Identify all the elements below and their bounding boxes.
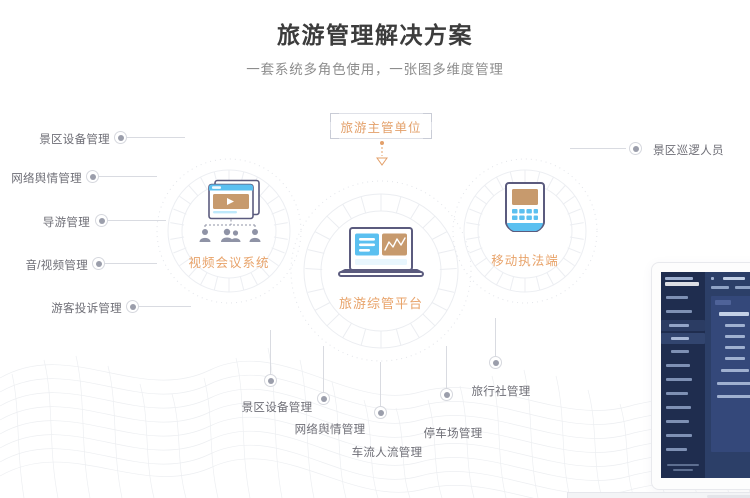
laptop-screen — [661, 272, 750, 478]
spoke-line-left-4 — [139, 306, 191, 307]
dashboard-content[interactable] — [705, 272, 750, 478]
badge-corner-tl — [330, 113, 340, 123]
handheld-terminal-icon — [501, 180, 549, 242]
admin-dashboard-preview[interactable] — [651, 262, 750, 490]
page-header: 旅游管理解决方案 一套系统多角色使用，一张图多维度管理 — [0, 18, 750, 82]
node-platform[interactable]: 旅游综管平台 — [321, 226, 441, 312]
spoke-label-left-3[interactable]: 音/视频管理 — [4, 257, 88, 273]
spoke-line-bottom-0 — [270, 330, 271, 376]
spoke-dot-left-3[interactable] — [93, 258, 104, 269]
laptop-dashboard-icon — [337, 226, 425, 284]
badge-edge-bottom — [339, 138, 423, 139]
spoke-line-bottom-3 — [446, 346, 447, 390]
badge-edge-right — [431, 122, 432, 130]
spoke-label-right-0[interactable]: 景区巡逻人员 — [653, 142, 750, 158]
spoke-dot-bottom-4[interactable] — [490, 357, 501, 368]
spoke-label-left-4[interactable]: 游客投诉管理 — [24, 300, 122, 316]
spoke-label-bottom-4[interactable]: 旅行社管理 — [456, 383, 546, 399]
page-title: 旅游管理解决方案 — [0, 18, 750, 52]
spoke-dot-bottom-1[interactable] — [318, 393, 329, 404]
node-video-conference[interactable]: 视频会议系统 — [169, 178, 289, 271]
authority-badge-label: 旅游主管单位 — [340, 117, 421, 136]
spoke-dot-bottom-2[interactable] — [375, 407, 386, 418]
node-platform-label: 旅游综管平台 — [321, 293, 441, 312]
spoke-dot-right-0[interactable] — [630, 143, 641, 154]
spoke-line-left-3 — [105, 263, 157, 264]
laptop-lid — [651, 262, 750, 490]
spoke-line-bottom-1 — [323, 346, 324, 394]
badge-corner-br — [422, 129, 432, 139]
node-mobile-enforcement[interactable]: 移动执法端 — [465, 180, 585, 269]
spoke-line-bottom-2 — [380, 362, 381, 408]
spoke-dot-bottom-3[interactable] — [441, 389, 452, 400]
spoke-label-left-2[interactable]: 导游管理 — [14, 214, 90, 230]
spoke-line-left-0 — [127, 137, 185, 138]
spoke-dot-left-2[interactable] — [96, 215, 107, 226]
spoke-dot-left-0[interactable] — [115, 132, 126, 143]
spoke-label-bottom-2[interactable]: 车流人流管理 — [342, 444, 432, 460]
node-mobile-enforcement-label: 移动执法端 — [465, 250, 585, 269]
spoke-label-bottom-0[interactable]: 景区设备管理 — [232, 399, 322, 415]
badge-edge-top — [339, 113, 423, 114]
spoke-label-left-0[interactable]: 景区设备管理 — [10, 131, 110, 147]
spoke-dot-bottom-0[interactable] — [265, 375, 276, 386]
spoke-label-bottom-3[interactable]: 停车场管理 — [408, 425, 498, 441]
spoke-line-right-0 — [570, 148, 626, 149]
laptop-base — [567, 492, 750, 498]
spoke-label-bottom-1[interactable]: 网络舆情管理 — [285, 421, 375, 437]
spoke-dot-left-4[interactable] — [127, 301, 138, 312]
spoke-label-left-1[interactable]: 网络舆情管理 — [0, 170, 82, 186]
spoke-line-bottom-4 — [495, 318, 496, 358]
video-window-icon — [193, 178, 265, 246]
dashboard-sidebar[interactable] — [661, 272, 705, 478]
background-mesh-decoration — [0, 308, 750, 498]
spoke-line-left-1 — [99, 176, 157, 177]
page-subtitle: 一套系统多角色使用，一张图多维度管理 — [0, 58, 750, 82]
spoke-line-left-2 — [108, 220, 166, 221]
spoke-dot-left-1[interactable] — [87, 171, 98, 182]
authority-badge[interactable]: 旅游主管单位 — [330, 113, 432, 139]
node-video-conference-label: 视频会议系统 — [169, 252, 289, 271]
badge-edge-left — [330, 122, 331, 130]
solution-diagram-canvas: 旅游管理解决方案 一套系统多角色使用，一张图多维度管理 — [0, 0, 750, 498]
badge-down-arrow-icon — [372, 140, 392, 168]
